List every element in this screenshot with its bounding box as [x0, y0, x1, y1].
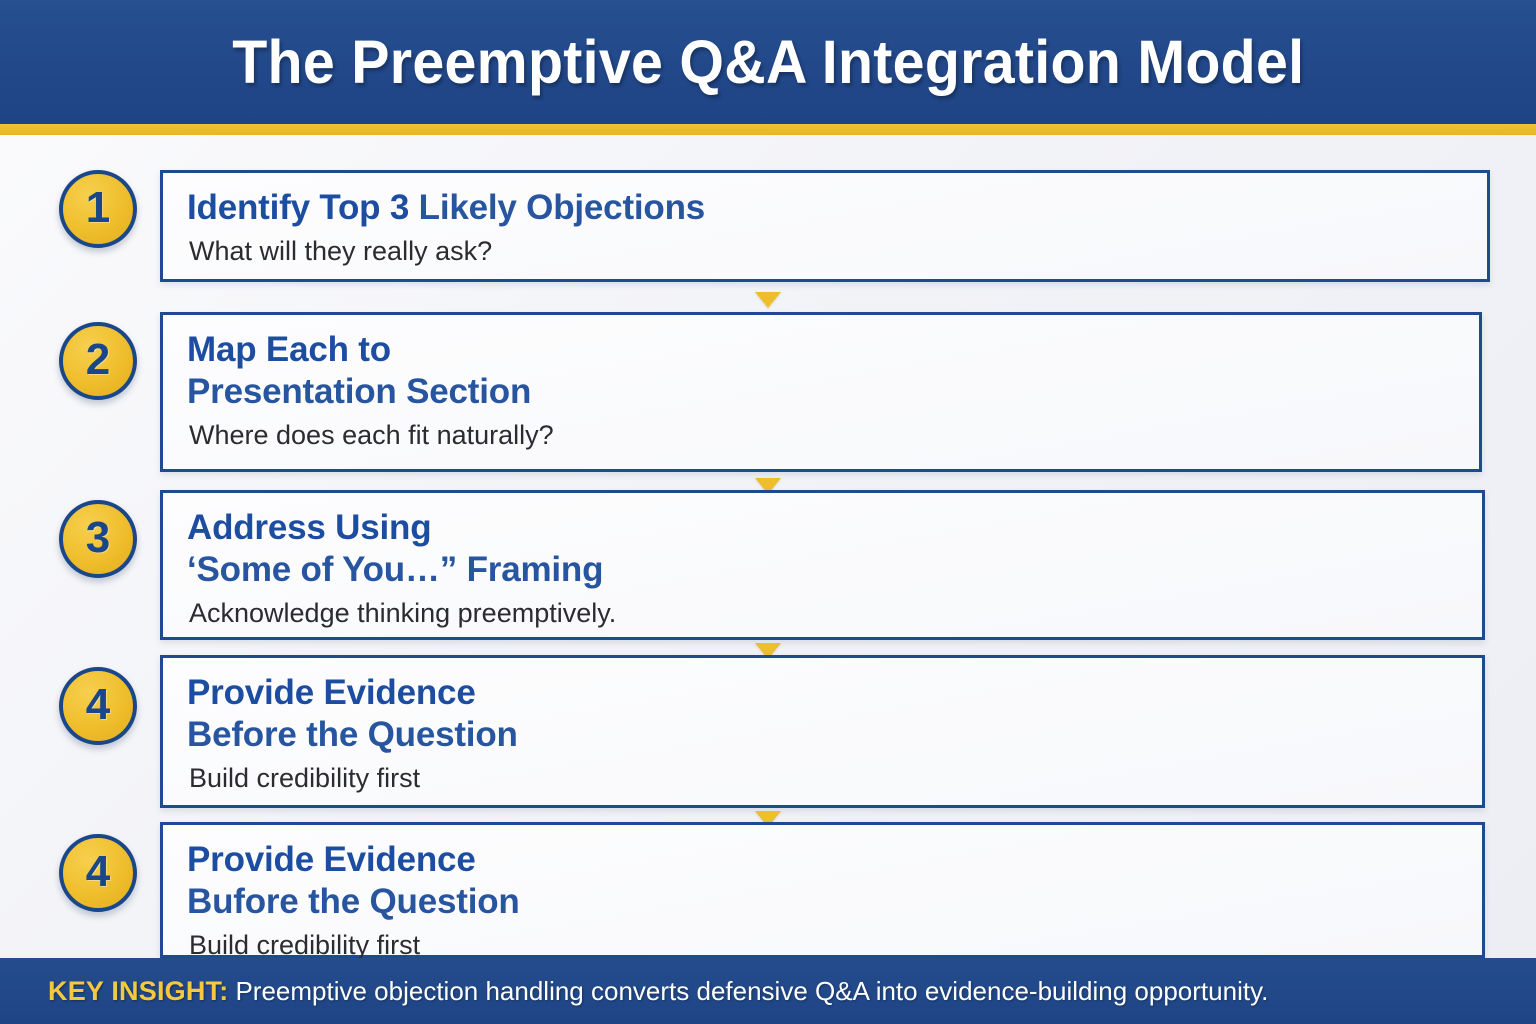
step-title-4: Provide EvidenceBefore the Question [187, 672, 1460, 756]
step-title-soft-1: Likely Objections [409, 188, 705, 227]
step-badge-2: 2 [59, 322, 137, 400]
step-number-5: 4 [86, 850, 110, 894]
step-title-soft-2: Presentation Section [187, 371, 1457, 413]
step-title-3: Address Using‘Some of You…” Framing [187, 507, 1460, 591]
step-subtitle-4: Build credibility first [189, 762, 1460, 796]
step-badge-3: 3 [59, 500, 137, 578]
header-gold-rule [0, 124, 1536, 135]
step-number-1: 1 [86, 186, 110, 230]
step-title-5: Provide EvidenceBufore the Question [187, 839, 1460, 923]
step-title-1: Identify Top 3 Likely Objections [187, 187, 1465, 229]
step-subtitle-1: What will they really ask? [189, 235, 1465, 269]
step-title-soft-3: ‘Some of You…” Framing [187, 549, 1460, 591]
step-subtitle-3: Acknowledge thinking preemptively. [189, 597, 1460, 631]
slide-root: The Preemptive Q&A Integration Model 1 I… [0, 0, 1536, 1024]
step-card-3[interactable]: Address Using‘Some of You…” Framing Ackn… [160, 490, 1485, 640]
step-card-1[interactable]: Identify Top 3 Likely Objections What wi… [160, 170, 1490, 282]
step-title-soft-5: Bufore the Question [187, 881, 1460, 923]
triangle-down-icon [755, 292, 781, 308]
slide-header: The Preemptive Q&A Integration Model [0, 0, 1536, 124]
step-badge-1: 1 [59, 170, 137, 248]
step-title-strong-3: Address Using [187, 507, 1460, 549]
step-card-5[interactable]: Provide EvidenceBufore the Question Buil… [160, 822, 1485, 958]
step-number-3: 3 [86, 516, 110, 560]
step-title-strong-4: Provide Evidence [187, 672, 1460, 714]
key-insight-inner: KEY INSIGHT:Preemptive objection handlin… [0, 976, 1268, 1007]
step-card-2[interactable]: Map Each toPresentation Section Where do… [160, 312, 1482, 472]
step-title-2: Map Each toPresentation Section [187, 329, 1457, 413]
step-title-strong-2: Map Each to [187, 329, 1457, 371]
step-title-strong-5: Provide Evidence [187, 839, 1460, 881]
step-title-soft-4: Before the Question [187, 714, 1460, 756]
step-badge-5: 4 [59, 834, 137, 912]
step-title-strong-1: Identify Top 3 [187, 188, 409, 227]
key-insight-bar: KEY INSIGHT:Preemptive objection handlin… [0, 958, 1536, 1024]
step-badge-4: 4 [59, 667, 137, 745]
step-number-2: 2 [86, 338, 110, 382]
key-insight-label: KEY INSIGHT: [48, 976, 228, 1006]
step-card-4[interactable]: Provide EvidenceBefore the Question Buil… [160, 655, 1485, 808]
step-number-4: 4 [86, 683, 110, 727]
key-insight-text: Preemptive objection handling converts d… [235, 976, 1268, 1006]
page-title: The Preemptive Q&A Integration Model [232, 32, 1304, 93]
step-subtitle-2: Where does each fit naturally? [189, 419, 1457, 453]
steps-list: 1 Identify Top 3 Likely Objections What … [0, 135, 1536, 958]
